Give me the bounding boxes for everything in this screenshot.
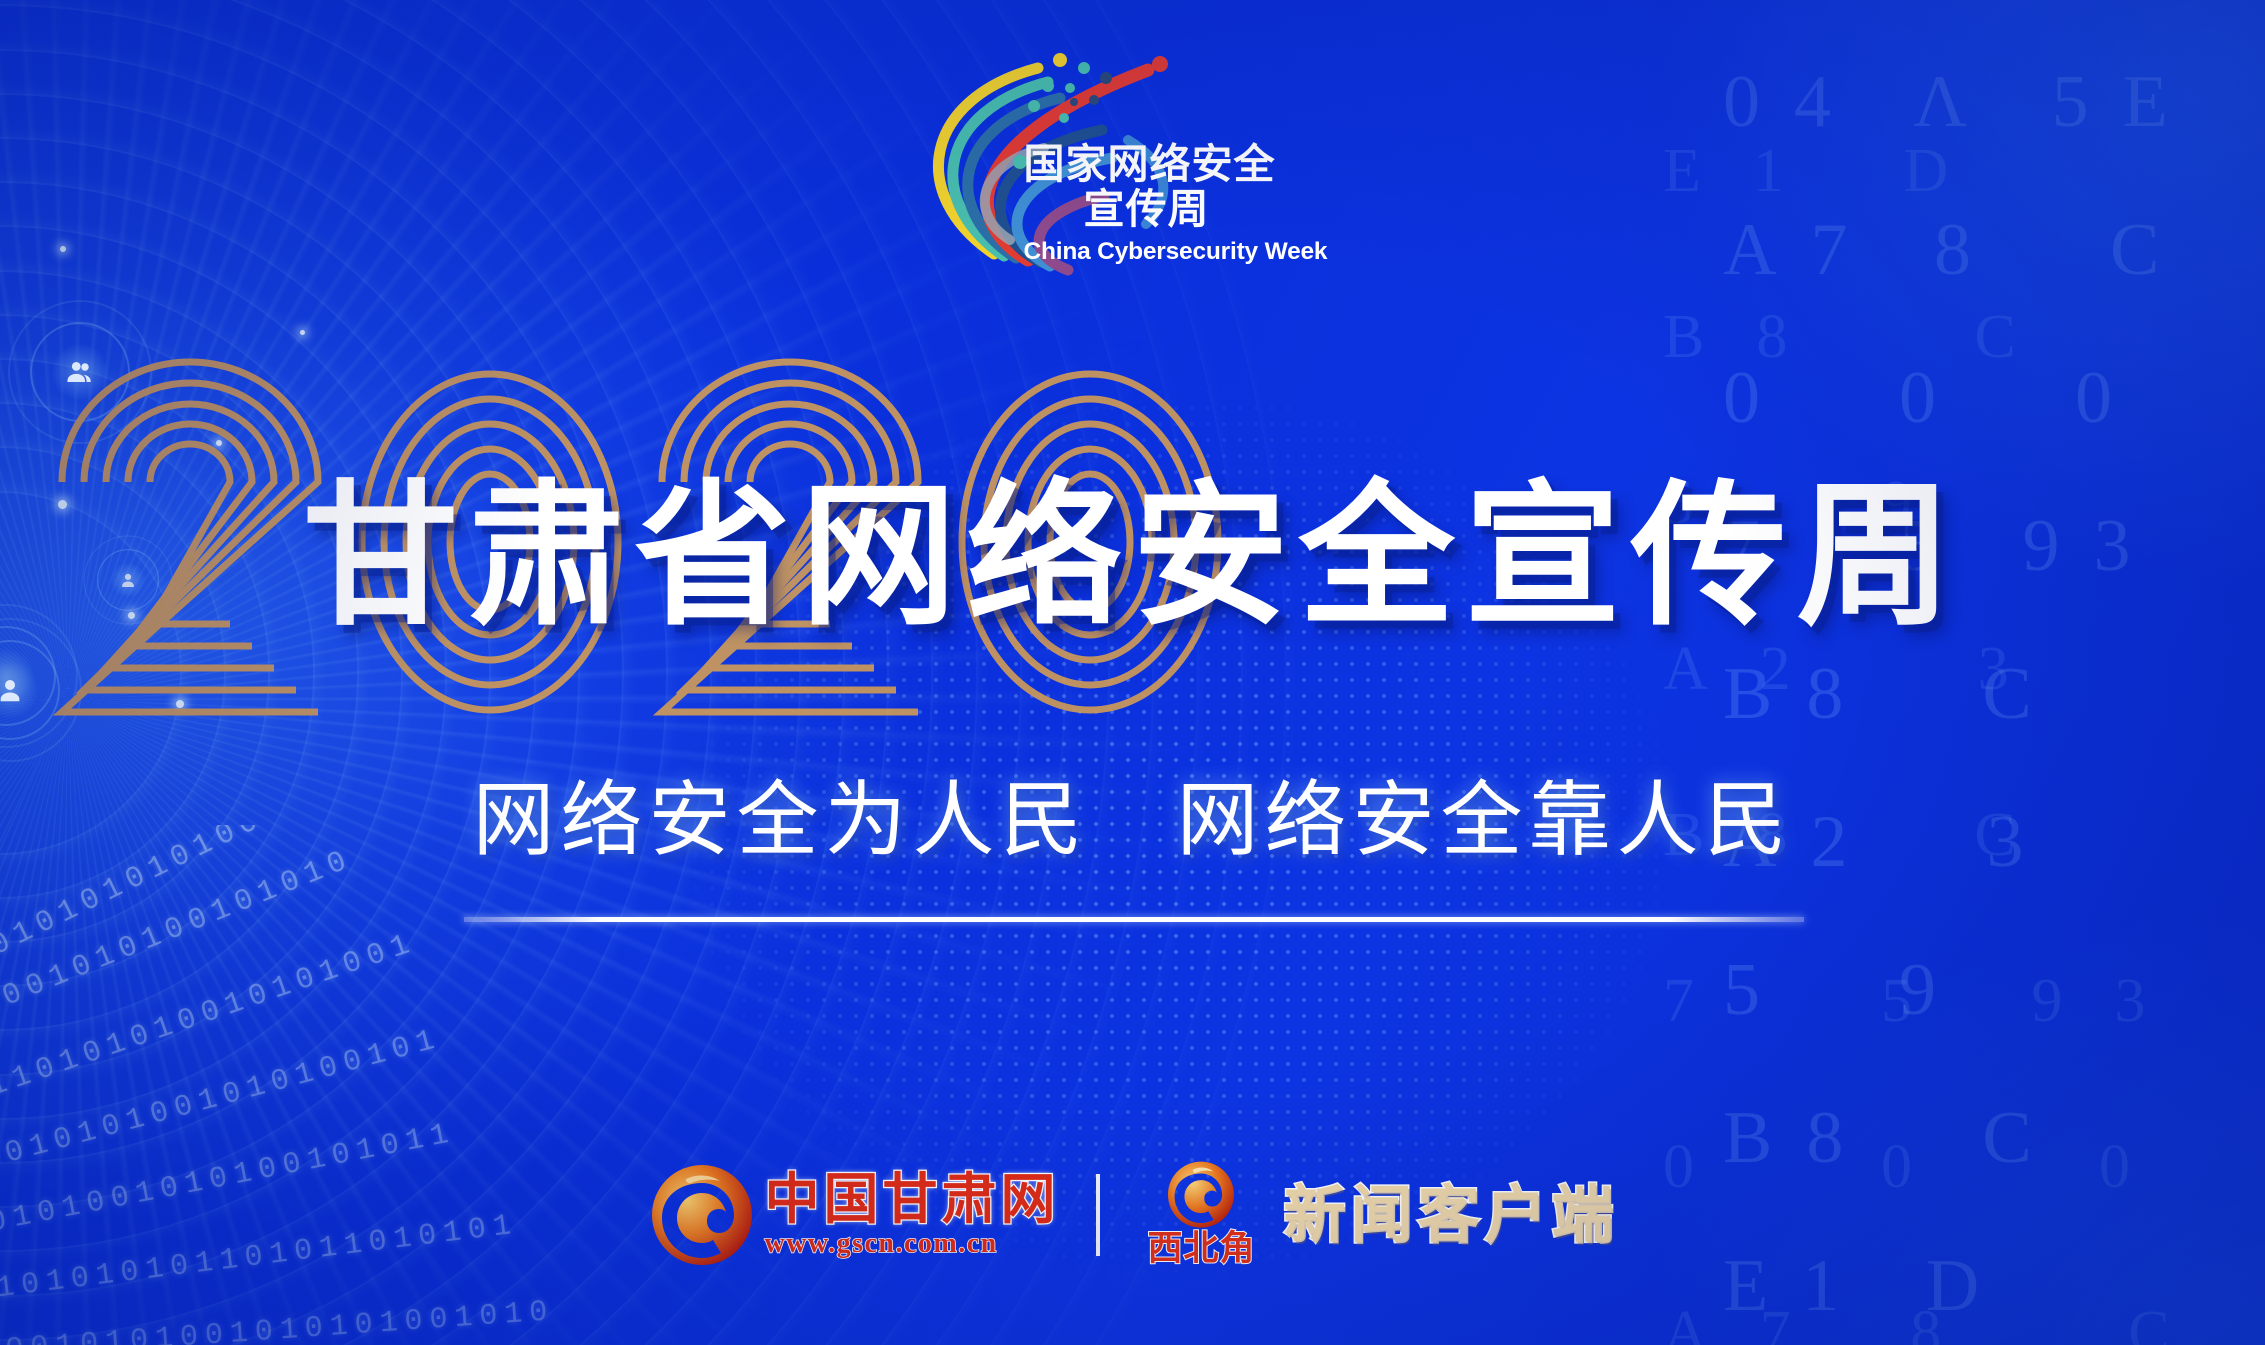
app-name: 新闻客户端 xyxy=(1284,1184,1619,1246)
logo-text-block: 国家网络安全 宣传周 China Cybersecurity Week xyxy=(1024,144,1364,266)
logo-english-text: China Cybersecurity Week xyxy=(1024,238,1364,266)
network-node-user xyxy=(0,662,38,718)
xbj-seal-text: 西北角 xyxy=(1136,1220,1268,1271)
gscn-logo[interactable]: 中国甘肃网 www.gscn.com.cn xyxy=(646,1159,1059,1271)
gscn-url: www.gscn.com.cn xyxy=(764,1228,997,1260)
china-cybersecurity-week-logo: 国家网络安全 宣传周 China Cybersecurity Week xyxy=(898,44,1368,274)
network-node-users xyxy=(52,344,108,400)
page-title: 甘肃省网络安全宣传周 xyxy=(0,478,2265,634)
gscn-name: 中国甘肃网 xyxy=(764,1171,1059,1226)
xbj-app-logo[interactable]: 西北角 新闻客户端 xyxy=(1136,1159,1619,1271)
page-subtitle: 网络安全为人民 网络安全靠人民 xyxy=(0,780,2265,862)
divider-rule xyxy=(464,917,1804,922)
logo-line-1: 国家网络安全 xyxy=(1024,144,1364,186)
user-icon xyxy=(0,675,25,705)
spark-dot xyxy=(60,246,66,252)
footer-logos: 中国甘肃网 www.gscn.com.cn xyxy=(0,1155,2265,1275)
logo-line-2: 宣传周 xyxy=(1024,189,1364,231)
footer-divider xyxy=(1096,1174,1100,1256)
xbj-mark-icon: 西北角 xyxy=(1136,1159,1268,1271)
background-hex-glyphs-secondary: E1 D B8 C 5 9 A2 3 B8 C 7 5 93 0 0 0 A7 … xyxy=(1645,60,2205,1345)
spark-dot xyxy=(176,700,184,708)
spark-dot xyxy=(300,330,305,335)
gscn-mark-icon xyxy=(646,1159,758,1271)
poster-canvas: 04 Λ 5E A7 8 C 0 0 0 7 5 93 B8 C A2 3 5 … xyxy=(0,0,2265,1345)
gscn-text-block: 中国甘肃网 www.gscn.com.cn xyxy=(764,1171,1059,1260)
users-icon xyxy=(65,357,95,387)
spark-dot xyxy=(216,440,222,446)
network-node-users-lower xyxy=(0,648,34,704)
